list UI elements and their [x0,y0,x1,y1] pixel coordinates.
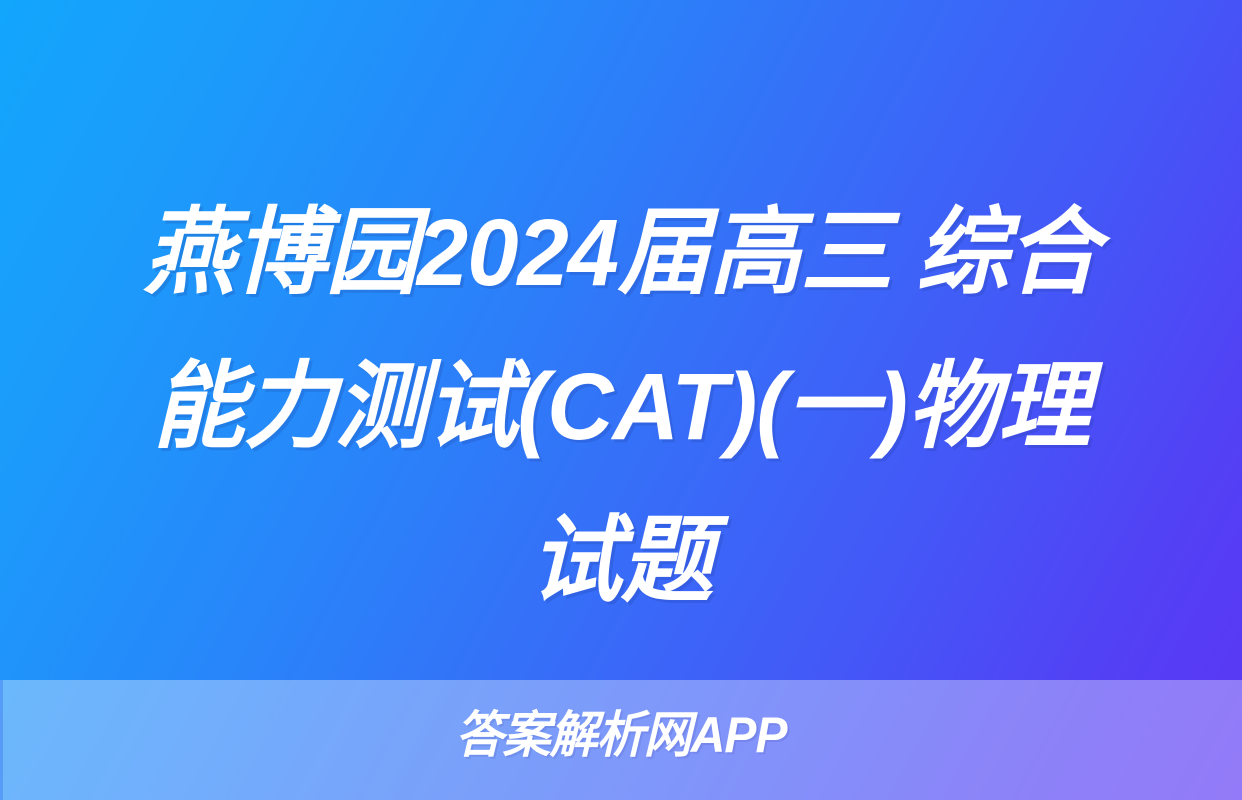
title-line-1: 燕博园2024届高三 综合 [77,176,1165,330]
footer-band-left-edge [0,680,3,800]
title-line-2: 能力测试(CAT)(一)物理 [77,330,1165,484]
cover-canvas: 燕博园2024届高三 综合 能力测试(CAT)(一)物理 试题 答案解析网APP [0,0,1242,800]
app-watermark: 答案解析网APP [25,706,1217,764]
page-title: 燕博园2024届高三 综合 能力测试(CAT)(一)物理 试题 [0,176,1242,638]
title-line-3: 试题 [77,484,1165,638]
